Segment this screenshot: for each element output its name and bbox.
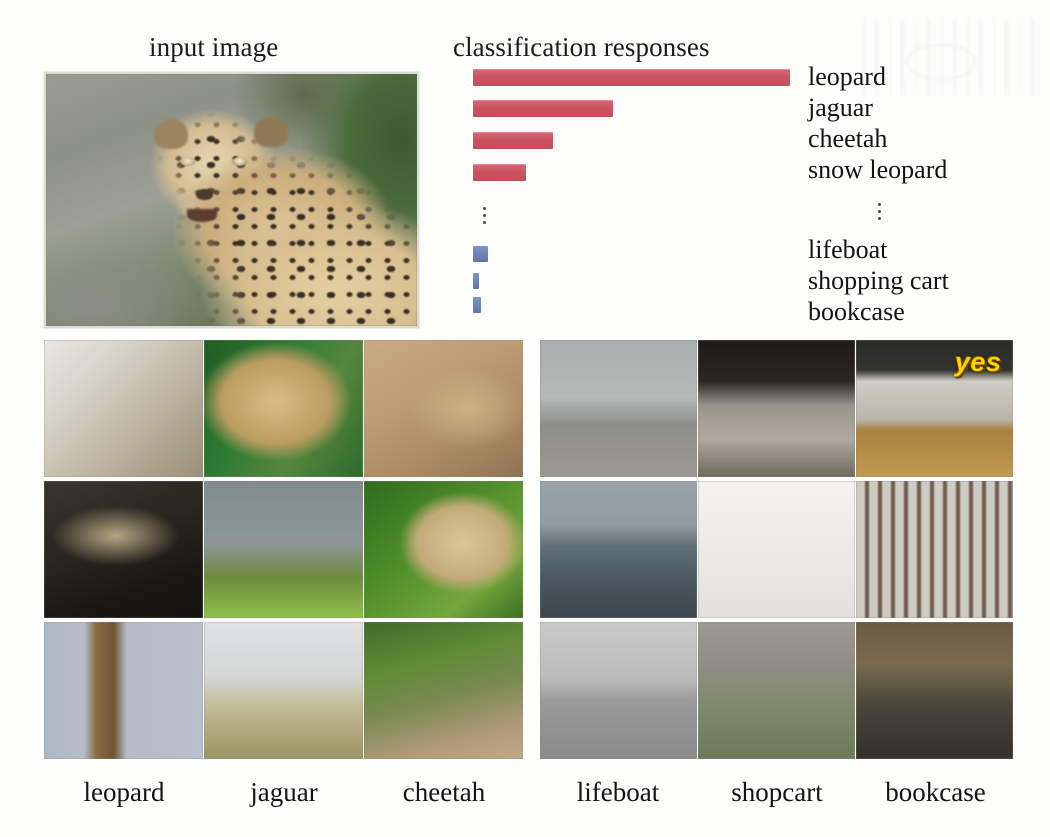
photo-thumbnail [364,622,523,759]
leopard-ear-left-icon [154,119,188,149]
input-image-photo [44,72,419,328]
grid-cell-cheetah-r1 [364,481,523,618]
grid-cell-bookcase-r0: yes [856,340,1013,477]
column-caption-shopcart: shopcart [698,777,856,808]
grid-cell-shopcart-r1 [698,481,855,618]
response-bar-shopping-cart [473,273,479,289]
labels-ellipsis-icon [874,199,884,220]
column-caption-leopard: leopard [44,777,204,808]
page-title-input-image: input image [149,32,278,63]
page-title-classification-responses: classification responses [453,32,710,63]
photo-thumbnail [540,622,697,759]
class-label-leopard: leopard [808,62,886,92]
grid-cell-lifeboat-r1 [540,481,697,618]
grid-cell-jaguar-r2 [204,622,363,759]
response-bar-bookcase [473,297,481,313]
photo-thumbnail [44,622,203,759]
photo-thumbnail [204,622,363,759]
grid-cell-bookcase-r2 [856,622,1013,759]
response-bar-lifeboat [473,246,488,262]
photo-thumbnail [856,481,1013,618]
photo-thumbnail [364,481,523,618]
grid-cell-leopard-r1 [44,481,203,618]
leopard-ear-right-icon [254,117,288,147]
photo-thumbnail [856,622,1013,759]
photo-thumbnail [364,340,523,477]
bars-ellipsis-icon [479,203,489,224]
column-caption-cheetah: cheetah [364,777,524,808]
grid-cell-jaguar-r0 [204,340,363,477]
response-bar-cheetah [473,132,553,149]
class-label-bookcase: bookcase [808,297,905,327]
photo-thumbnail [540,481,697,618]
response-bar-snow-leopard [473,164,526,181]
grid-cell-lifeboat-r0 [540,340,697,477]
background-watermark-ring [906,44,976,80]
photo-thumbnail [204,481,363,618]
column-caption-lifeboat: lifeboat [540,777,696,808]
class-label-lifeboat: lifeboat [808,235,887,265]
grid-cell-leopard-r2 [44,622,203,759]
class-label-snow-leopard: snow leopard [808,155,947,185]
leopard-mouth-icon [187,209,217,222]
column-caption-jaguar: jaguar [205,777,363,808]
leopard-face-details [46,74,417,326]
grid-cell-shopcart-r2 [698,622,855,759]
leopard-eye-right-icon [232,157,247,166]
leopard-eye-left-icon [180,157,195,166]
grid-cell-cheetah-r0 [364,340,523,477]
grid-cell-lifeboat-r2 [540,622,697,759]
photo-thumbnail [44,481,203,618]
grid-cell-jaguar-r1 [204,481,363,618]
photo-thumbnail [698,340,855,477]
class-label-cheetah: cheetah [808,124,887,154]
grid-cell-leopard-r0 [44,340,203,477]
grid-cell-cheetah-r2 [364,622,523,759]
photo-thumbnail [698,622,855,759]
annotation-yes-label: yes [955,347,1002,378]
response-bar-jaguar [473,100,613,117]
grid-cell-shopcart-r0 [698,340,855,477]
photo-thumbnail [204,340,363,477]
class-label-shopping-cart: shopping cart [808,266,949,296]
photo-thumbnail [698,481,855,618]
response-bar-leopard [473,69,790,86]
leopard-nose-icon [196,189,213,200]
grid-cell-bookcase-r1 [856,481,1013,618]
photo-thumbnail [540,340,697,477]
column-caption-bookcase: bookcase [857,777,1014,808]
class-label-jaguar: jaguar [808,93,873,123]
photo-thumbnail [44,340,203,477]
